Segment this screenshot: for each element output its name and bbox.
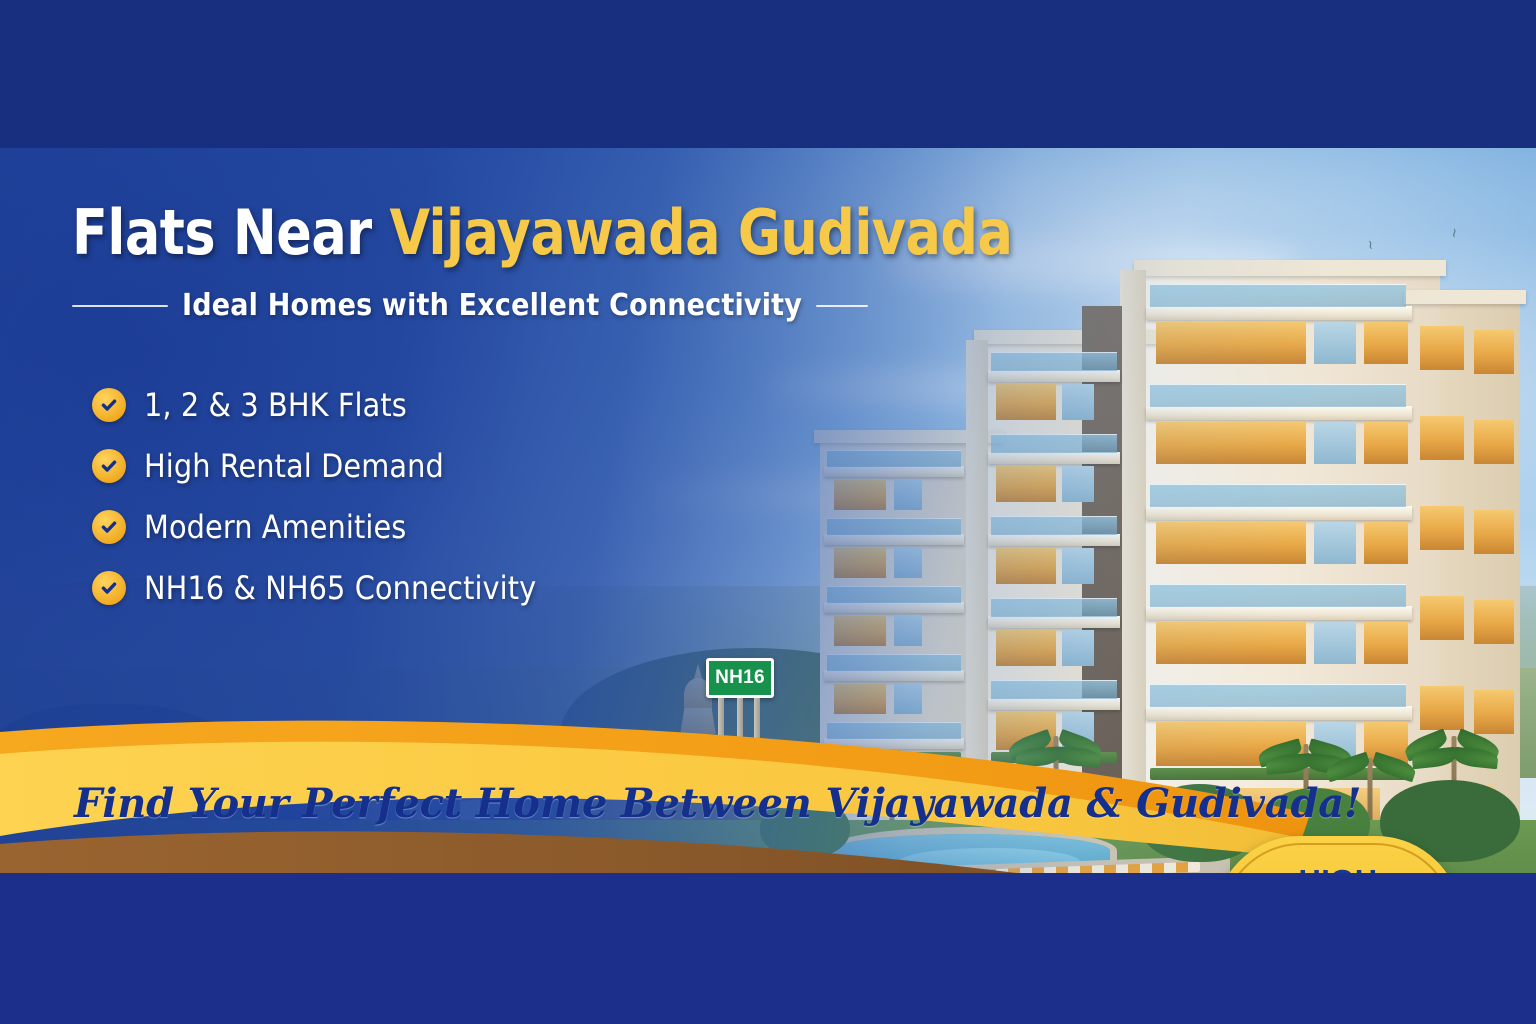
headline-white-part: Flats Near [72, 196, 389, 269]
tagline-text: Find Your Perfect Home Between Vijayawad… [74, 780, 1214, 827]
status-badge: HIGH INVESTMENT POTENTIAL [1214, 836, 1462, 873]
check-circle-icon [92, 510, 126, 544]
subtitle-row: Ideal Homes with Excellent Connectivity [72, 288, 868, 323]
list-item: 1, 2 & 3 BHK Flats [92, 386, 536, 424]
badge-text: HIGH INVESTMENT POTENTIAL [1214, 836, 1462, 873]
list-item-label: Modern Amenities [144, 508, 406, 546]
feature-list: 1, 2 & 3 BHK Flats High Rental Demand Mo… [92, 386, 536, 630]
subtitle: Ideal Homes with Excellent Connectivity [182, 288, 802, 323]
banner-canvas: ≀ ≀ ≀ [0, 0, 1536, 1024]
list-item-label: High Rental Demand [144, 447, 444, 485]
check-circle-icon [92, 449, 126, 483]
banner-artwork: ≀ ≀ ≀ [0, 148, 1536, 873]
list-item: Modern Amenities [92, 508, 536, 546]
badge-line-1: HIGH [1298, 865, 1377, 873]
page-title: Flats Near Vijayawada Gudivada [72, 196, 1012, 269]
list-item-label: 1, 2 & 3 BHK Flats [144, 386, 407, 424]
list-item: High Rental Demand [92, 447, 536, 485]
rule-left [72, 305, 168, 307]
top-margin-band [0, 0, 1536, 148]
list-item: NH16 & NH65 Connectivity [92, 569, 536, 607]
list-item-label: NH16 & NH65 Connectivity [144, 569, 536, 607]
bottom-margin-band [0, 873, 1536, 1024]
headline-gold-part: Vijayawada Gudivada [389, 196, 1012, 269]
check-circle-icon [92, 388, 126, 422]
rule-right [816, 305, 868, 307]
check-circle-icon [92, 571, 126, 605]
